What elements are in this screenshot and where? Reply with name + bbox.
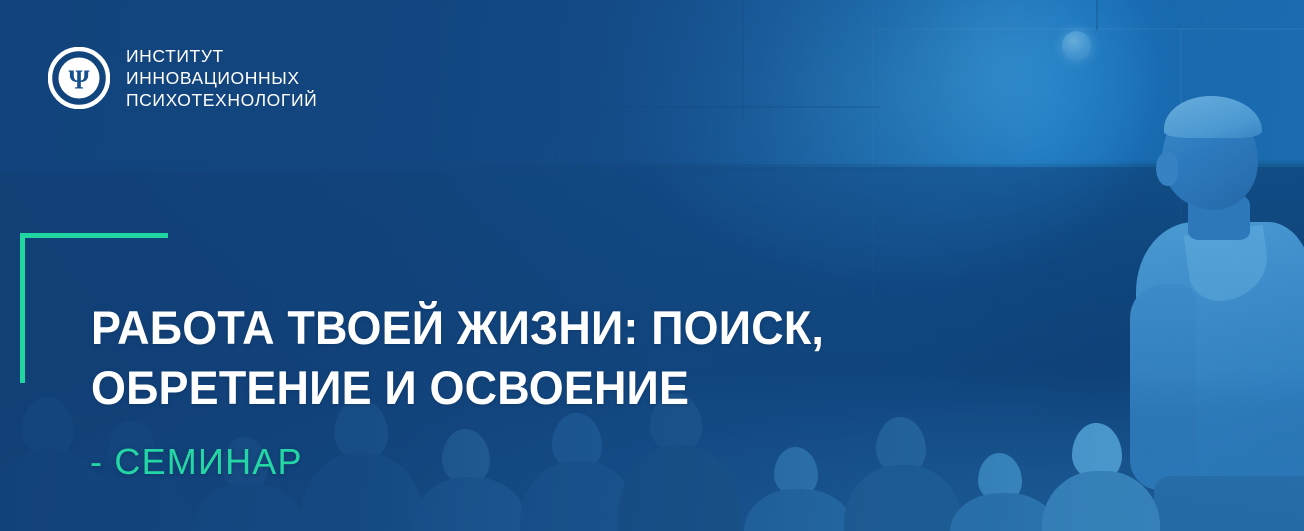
brand-logo-line-3: ПСИХОТЕХНОЛОГИЙ: [126, 90, 317, 110]
brand-logo[interactable]: Ψ ИНСТИТУТ ИННОВАЦИОННЫХ ПСИХОТЕХНОЛОГИЙ: [48, 46, 317, 110]
page-title-line-2: ОБРЕТЕНИЕ И ОСВОЕНИЕ: [91, 358, 951, 418]
page-title: РАБОТА ТВОЕЙ ЖИЗНИ: ПОИСК, ОБРЕТЕНИЕ И О…: [91, 298, 951, 418]
seminar-hero-banner: Ψ ИНСТИТУТ ИННОВАЦИОННЫХ ПСИХОТЕХНОЛОГИЙ…: [0, 0, 1304, 531]
corner-bracket-top: [20, 233, 168, 238]
page-subtitle: - СЕМИНАР: [90, 440, 303, 484]
psi-circle-icon: Ψ: [48, 47, 110, 109]
brand-logo-text: ИНСТИТУТ ИННОВАЦИОННЫХ ПСИХОТЕХНОЛОГИЙ: [126, 46, 317, 110]
banner-content: Ψ ИНСТИТУТ ИННОВАЦИОННЫХ ПСИХОТЕХНОЛОГИЙ…: [0, 0, 1304, 531]
page-title-line-1: РАБОТА ТВОЕЙ ЖИЗНИ: ПОИСК,: [91, 298, 951, 358]
corner-bracket-left: [20, 233, 25, 383]
svg-text:Ψ: Ψ: [68, 65, 89, 95]
brand-logo-line-2: ИННОВАЦИОННЫХ: [126, 68, 317, 88]
brand-logo-line-1: ИНСТИТУТ: [126, 46, 317, 66]
